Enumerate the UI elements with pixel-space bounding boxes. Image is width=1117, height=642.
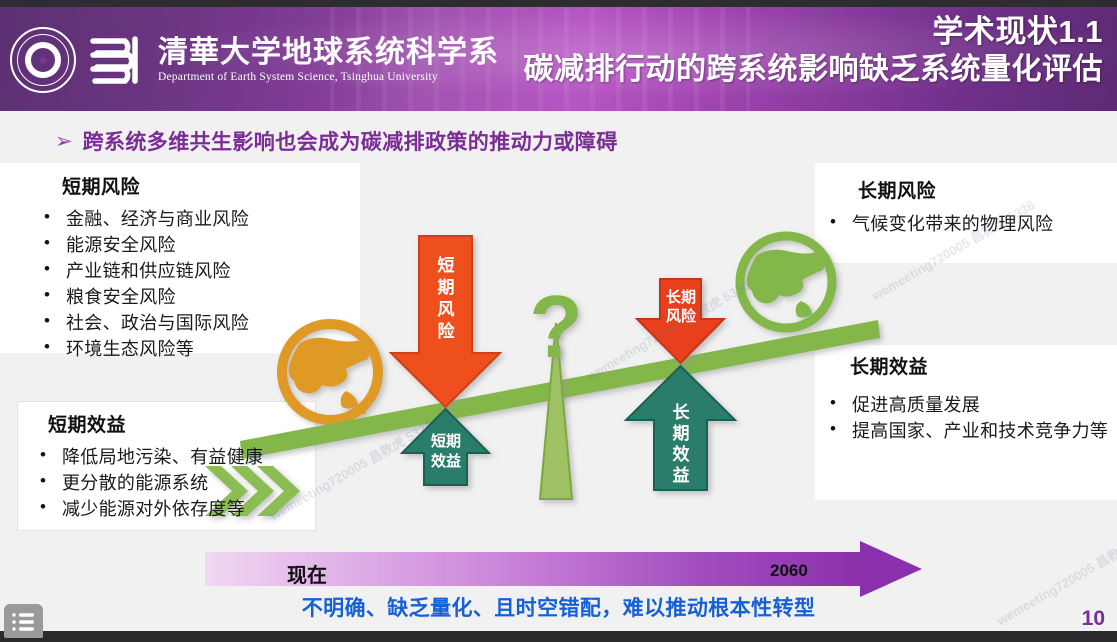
list-item: 减少能源对外依存度等 — [36, 496, 263, 522]
short-term-risk-list: 金融、经济与商业风险 能源安全风险 产业链和供应链风险 粮食安全风险 社会、政治… — [40, 206, 249, 363]
list-item: 气候变化带来的物理风险 — [826, 211, 1053, 237]
list-menu-icon[interactable] — [4, 604, 43, 638]
bullet-arrow-icon: ➢ — [55, 131, 73, 152]
seal-star-glyph: ★ — [37, 54, 49, 67]
timeline-arrow: 现在 2060 — [205, 548, 925, 590]
list-item: 能源安全风险 — [40, 232, 249, 258]
header-title-line1: 学术现状1.1 — [524, 15, 1104, 50]
timeline-end-label: 2060 — [770, 561, 808, 581]
slide-header: ★ 清華大学地球系统科学系 Department of Earth System… — [0, 7, 1117, 111]
long-term-benefit-list: 促进高质量发展 提高国家、产业和技术竞争力等 — [826, 392, 1116, 444]
globe-orange-icon — [282, 324, 378, 420]
dess-monogram-icon — [85, 31, 149, 89]
list-item: 环境生态风险等 — [40, 336, 249, 362]
short-term-benefit-title: 短期效益 — [48, 410, 126, 437]
slide-root: ★ 清華大学地球系统科学系 Department of Earth System… — [0, 0, 1117, 642]
footer-note: 不明确、缺乏量化、且时空错配，难以推动根本性转型 — [0, 592, 1117, 622]
list-item: 金融、经济与商业风险 — [40, 206, 249, 232]
org-name-cn: 清華大学地球系统科学系 — [158, 37, 499, 69]
short-term-benefit-list: 降低局地污染、有益健康 更分散的能源系统 减少能源对外依存度等 — [36, 444, 263, 522]
list-item: 产业链和供应链风险 — [40, 258, 249, 284]
org-name-en: Department of Earth System Science, Tsin… — [158, 71, 499, 83]
long-term-risk-title: 长期风险 — [858, 176, 936, 203]
list-item: 更分散的能源系统 — [36, 470, 263, 496]
tsinghua-seal-icon: ★ — [10, 27, 76, 93]
header-title-group: 学术现状1.1 碳减排行动的跨系统影响缺乏系统量化评估 — [524, 15, 1104, 86]
long-term-benefit-title: 长期效益 — [850, 352, 928, 379]
org-name-group: 清華大学地球系统科学系 Department of Earth System S… — [158, 37, 499, 83]
list-item: 促进高质量发展 — [826, 392, 1116, 418]
subheading: ➢ 跨系统多维共生影响也会成为碳减排政策的推动力或障碍 — [55, 126, 618, 156]
short-term-risk-title: 短期风险 — [62, 172, 140, 199]
globe-green-icon — [740, 236, 832, 328]
list-item: 粮食安全风险 — [40, 284, 249, 310]
page-number: 10 — [1082, 607, 1105, 631]
list-item: 社会、政治与国际风险 — [40, 310, 249, 336]
tsinghua-logo-group: ★ 清華大学地球系统科学系 Department of Earth System… — [10, 27, 499, 93]
svg-text:?: ? — [529, 277, 583, 376]
question-mark-icon: ? — [529, 277, 583, 376]
window-top-bar — [0, 0, 1117, 7]
timeline-arrowhead-icon — [860, 541, 922, 597]
long-term-risk-list: 气候变化带来的物理风险 — [826, 211, 1053, 237]
window-bottom-bar — [0, 631, 1117, 642]
timeline-start-label: 现在 — [287, 559, 327, 588]
header-title-line2: 碳减排行动的跨系统影响缺乏系统量化评估 — [524, 53, 1104, 87]
list-item: 降低局地污染、有益健康 — [36, 444, 263, 470]
list-item: 提高国家、产业和技术竞争力等 — [826, 418, 1116, 444]
subheading-text: 跨系统多维共生影响也会成为碳减排政策的推动力或障碍 — [83, 126, 618, 156]
